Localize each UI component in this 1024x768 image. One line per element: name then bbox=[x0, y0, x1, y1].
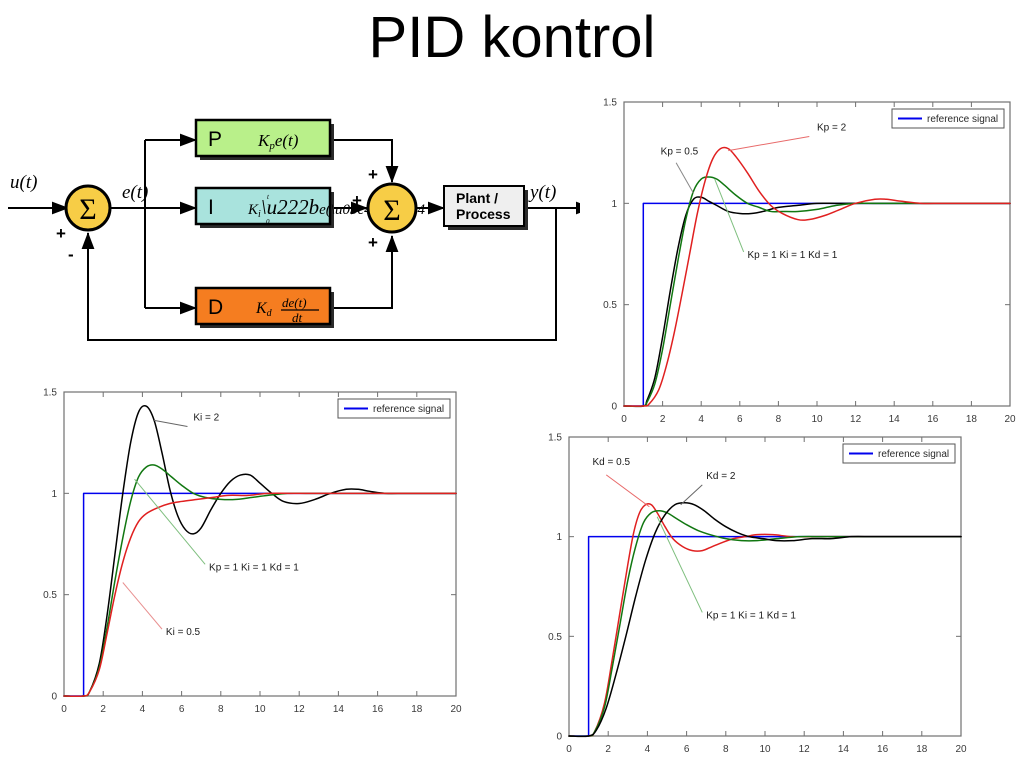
chart-annotation: Kp = 0.5 bbox=[661, 147, 699, 158]
x-tick-label: 18 bbox=[916, 744, 928, 755]
summer2-plus-p: + bbox=[368, 165, 378, 184]
x-tick-label: 4 bbox=[698, 414, 704, 425]
chart-annotation: Ki = 0.5 bbox=[166, 627, 201, 638]
chart-annotation: Kd = 2 bbox=[706, 471, 736, 482]
plot-frame bbox=[64, 392, 456, 696]
slide-canvas: PID kontrol bbox=[0, 0, 1024, 768]
x-tick-label: 12 bbox=[850, 414, 862, 425]
y-tick-label: 1.5 bbox=[548, 433, 562, 444]
x-tick-label: 20 bbox=[450, 704, 462, 715]
plot-frame bbox=[569, 437, 961, 736]
chart-annotation: Kp = 1 Ki = 1 Kd = 1 bbox=[748, 250, 838, 261]
x-tick-label: 0 bbox=[621, 414, 627, 425]
chart-kp-variation: 0246810121416182000.511.5Kp = 2Kp = 0.5K… bbox=[580, 90, 1024, 440]
summer1-minus-sign: - bbox=[68, 245, 74, 264]
x-tick-label: 2 bbox=[605, 744, 611, 755]
x-tick-label: 12 bbox=[294, 704, 306, 715]
x-tick-label: 4 bbox=[645, 744, 651, 755]
signal-label-error: e(t) bbox=[122, 182, 148, 203]
signal-label-input: u(t) bbox=[10, 172, 37, 193]
signal-label-output: y(t) bbox=[528, 182, 556, 203]
block-d[interactable]: D Kd de(t) dt bbox=[196, 288, 334, 328]
x-tick-label: 4 bbox=[140, 704, 146, 715]
x-tick-label: 8 bbox=[218, 704, 224, 715]
x-tick-label: 12 bbox=[799, 744, 811, 755]
y-tick-label: 1 bbox=[51, 489, 57, 500]
x-tick-label: 6 bbox=[737, 414, 743, 425]
block-p[interactable]: P Kpe(t) bbox=[196, 120, 334, 160]
sigma-symbol-2: Σ bbox=[383, 194, 400, 227]
x-tick-label: 8 bbox=[776, 414, 782, 425]
wire-d-out bbox=[333, 236, 392, 308]
y-tick-label: 1 bbox=[611, 199, 617, 210]
x-tick-label: 8 bbox=[723, 744, 729, 755]
block-p-formula: Kpe(t) bbox=[257, 131, 299, 152]
chart-annotation: Ki = 2 bbox=[193, 412, 219, 423]
y-tick-label: 0.5 bbox=[603, 300, 617, 311]
x-tick-label: 0 bbox=[61, 704, 67, 715]
x-tick-label: 18 bbox=[966, 414, 978, 425]
sigma-symbol-1: Σ bbox=[79, 193, 96, 226]
x-tick-label: 18 bbox=[411, 704, 423, 715]
block-i-letter: I bbox=[208, 196, 214, 219]
y-tick-label: 1 bbox=[556, 532, 562, 543]
plant-line-2: Process bbox=[456, 206, 511, 222]
chart-annotation: Kp = 1 Ki = 1 Kd = 1 bbox=[209, 562, 299, 573]
block-p-letter: P bbox=[208, 128, 222, 151]
chart-kd-variation: 0246810121416182000.511.5Kd = 0.5Kd = 2K… bbox=[525, 425, 975, 768]
y-tick-label: 0 bbox=[51, 692, 57, 703]
chart-ki-variation: 0246810121416182000.511.5Ki = 2Kp = 1 Ki… bbox=[20, 380, 470, 730]
x-tick-label: 14 bbox=[889, 414, 901, 425]
x-tick-label: 16 bbox=[927, 414, 939, 425]
svg-text:de(t): de(t) bbox=[282, 295, 307, 310]
legend-label-reference-signal: reference signal bbox=[878, 449, 949, 460]
chart-annotation: Kp = 1 Ki = 1 Kd = 1 bbox=[706, 610, 796, 621]
summing-junction-2[interactable]: Σ bbox=[368, 184, 416, 232]
x-tick-label: 14 bbox=[838, 744, 850, 755]
wire-p-out bbox=[333, 140, 392, 182]
legend-label-reference-signal: reference signal bbox=[927, 114, 998, 125]
x-tick-label: 6 bbox=[179, 704, 185, 715]
pid-block-diagram: P Kpe(t) I Ki\u222be(\u03c4)d\u03c4 t 0 … bbox=[0, 100, 600, 365]
legend-label-reference-signal: reference signal bbox=[373, 404, 444, 415]
y-tick-label: 1.5 bbox=[603, 98, 617, 109]
plant-process-block[interactable]: Plant / Process bbox=[444, 186, 528, 230]
y-tick-label: 0.5 bbox=[548, 632, 562, 643]
summing-junction-1[interactable]: Σ bbox=[66, 186, 110, 230]
page-title: PID kontrol bbox=[0, 6, 1024, 70]
summer2-plus-i: + bbox=[352, 191, 362, 210]
chart-annotation: Kp = 2 bbox=[817, 122, 847, 133]
x-tick-label: 2 bbox=[100, 704, 106, 715]
y-tick-label: 0.5 bbox=[43, 590, 57, 601]
y-tick-label: 1.5 bbox=[43, 388, 57, 399]
x-tick-label: 16 bbox=[372, 704, 384, 715]
block-d-letter: D bbox=[208, 296, 223, 319]
y-tick-label: 0 bbox=[611, 402, 617, 413]
y-tick-label: 0 bbox=[556, 732, 562, 743]
x-tick-label: 10 bbox=[811, 414, 823, 425]
chart-annotation: Kd = 0.5 bbox=[593, 457, 631, 468]
x-tick-label: 20 bbox=[1004, 414, 1016, 425]
plant-line-1: Plant / bbox=[456, 190, 498, 206]
x-tick-label: 6 bbox=[684, 744, 690, 755]
svg-text:dt: dt bbox=[292, 310, 303, 325]
x-tick-label: 10 bbox=[759, 744, 771, 755]
summer2-plus-d: + bbox=[368, 233, 378, 252]
x-tick-label: 14 bbox=[333, 704, 345, 715]
x-tick-label: 2 bbox=[660, 414, 666, 425]
summer1-plus-sign: + bbox=[56, 224, 66, 243]
x-tick-label: 0 bbox=[566, 744, 572, 755]
x-tick-label: 16 bbox=[877, 744, 889, 755]
x-tick-label: 20 bbox=[955, 744, 967, 755]
block-i-limit-lower: 0 bbox=[266, 218, 270, 226]
x-tick-label: 10 bbox=[254, 704, 266, 715]
